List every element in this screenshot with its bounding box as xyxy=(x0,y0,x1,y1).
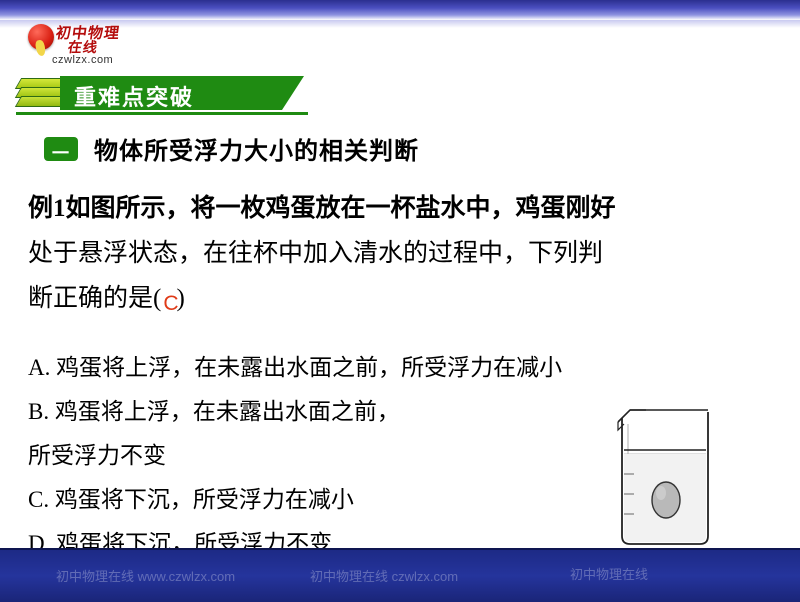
red-disc-logo-icon xyxy=(28,24,54,50)
options-list: A. 鸡蛋将上浮，在未露出水面之前，所受浮力在减小 B. 鸡蛋将上浮，在未露出水… xyxy=(28,346,628,566)
option-a: A. 鸡蛋将上浮，在未露出水面之前，所受浮力在减小 xyxy=(28,346,628,390)
section-number: 一 xyxy=(52,139,69,164)
banner-underline xyxy=(16,112,308,115)
logo-url: czwlzx.com xyxy=(52,54,113,66)
beaker-with-egg-icon xyxy=(600,404,730,554)
banner-title: 重难点突破 xyxy=(74,80,194,112)
section-banner: 重难点突破 xyxy=(16,76,306,110)
option-c: C. 鸡蛋将下沉，所受浮力在减小 xyxy=(28,478,628,522)
question-line-2: 处于悬浮状态，在往杯中加入清水的过程中，下列判 xyxy=(28,231,768,276)
option-b-line1: B. 鸡蛋将上浮，在未露出水面之前， xyxy=(28,390,628,434)
question-line-3: 断正确的是(C) xyxy=(28,276,768,322)
answer-mark: C xyxy=(163,292,178,315)
question-line-1: 例1如图所示，将一枚鸡蛋放在一杯盐水中，鸡蛋刚好 xyxy=(28,186,768,231)
top-gradient-band xyxy=(0,0,800,20)
section-title: 物体所受浮力大小的相关判断 xyxy=(94,131,419,166)
watermark-2: 初中物理在线 czwlzx.com xyxy=(310,566,458,585)
watermark-3: 初中物理在线 xyxy=(570,564,648,583)
site-logo: 初中物理 在线 czwlzx.com xyxy=(22,22,132,68)
section-number-badge: 一 xyxy=(44,137,78,161)
question-body: 例1如图所示，将一枚鸡蛋放在一杯盐水中，鸡蛋刚好 处于悬浮状态，在往杯中加入清水… xyxy=(28,186,768,322)
watermark-1: 初中物理在线 www.czwlzx.com xyxy=(56,566,235,585)
option-b-line2: 所受浮力不变 xyxy=(28,434,628,478)
question-line-3-prefix: 断正确的是( xyxy=(28,285,161,312)
